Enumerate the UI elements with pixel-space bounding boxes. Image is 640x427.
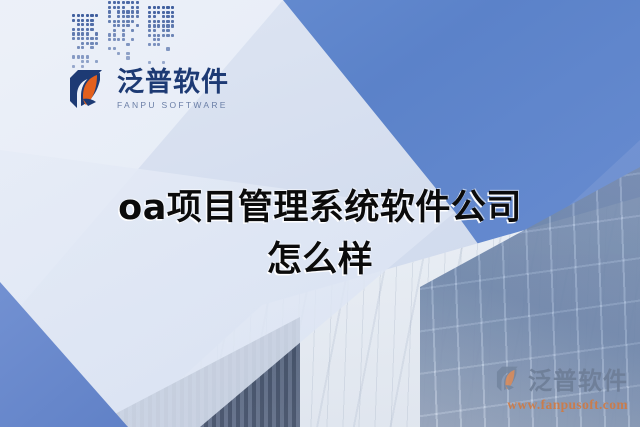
fanpu-logo-mark-icon [64,66,110,112]
pixel-skyline-graphic [72,0,182,70]
promo-banner: 泛普软件 FANPU SOFTWARE oa项目管理系统软件公司 怎么样 泛普软… [0,0,640,427]
brand-logo: 泛普软件 FANPU SOFTWARE [64,66,229,112]
brand-name-cn: 泛普软件 [117,69,229,96]
watermark-name-cn: 泛普软件 [528,361,628,396]
brand-text: 泛普软件 FANPU SOFTWARE [117,69,229,110]
brand-name-en: FANPU SOFTWARE [117,101,229,110]
headline-line-2: 怎么样 [0,234,640,286]
headline-line-1: oa项目管理系统软件公司 [118,188,522,228]
watermark-url: www.fanpusoft.com [507,397,628,413]
headline: oa项目管理系统软件公司 怎么样 [0,182,640,286]
fanpu-watermark-mark-icon [493,364,523,394]
watermark-logo-row: 泛普软件 [493,361,628,396]
watermark: 泛普软件 www.fanpusoft.com [493,361,628,413]
